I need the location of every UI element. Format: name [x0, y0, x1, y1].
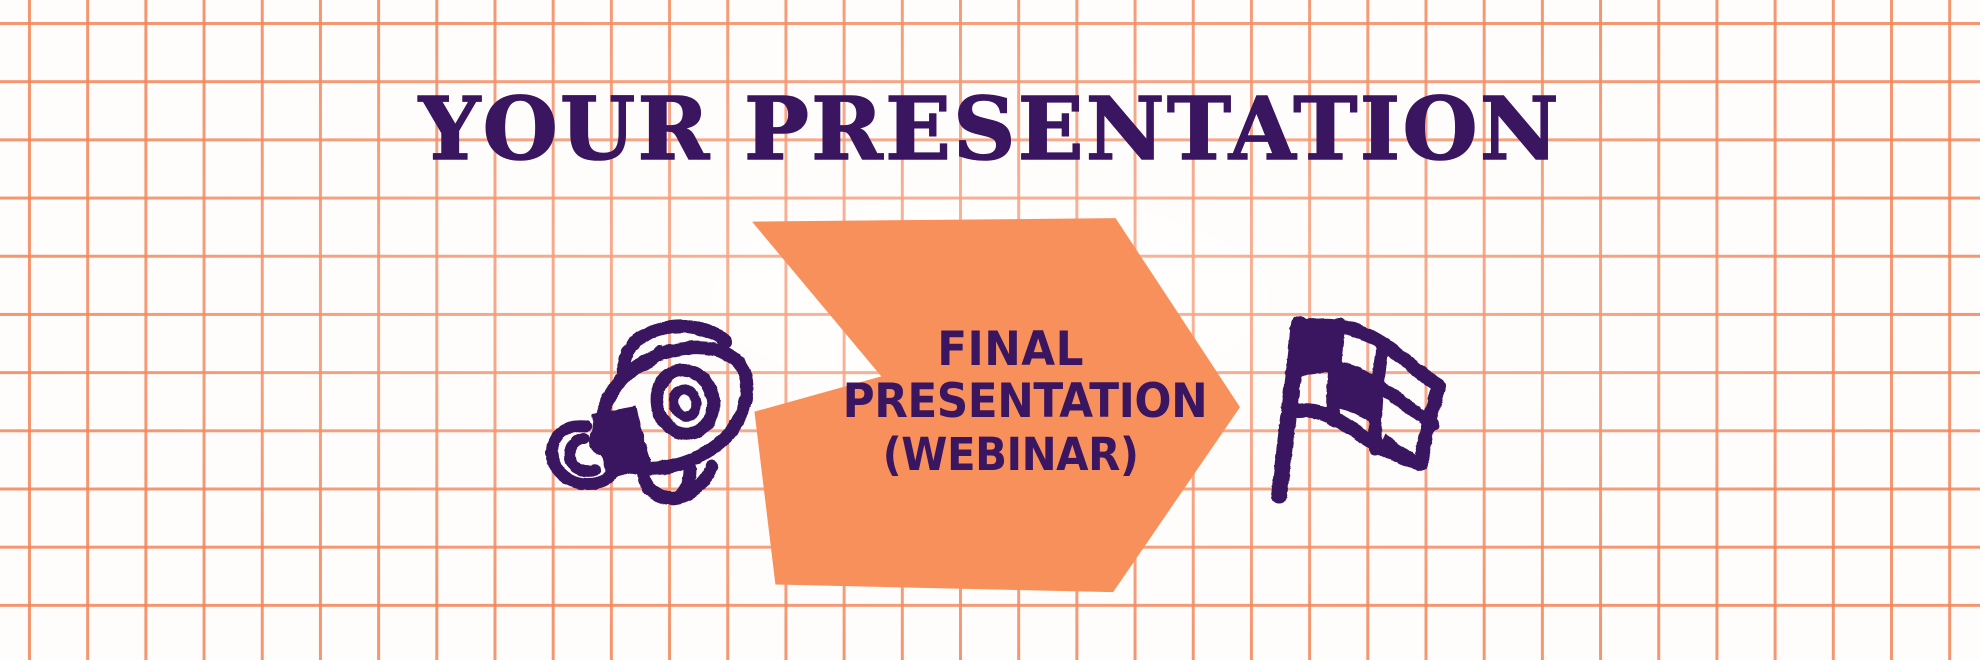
- timeline-stage: FINAL PRESENTATION (WEBINAR): [0, 0, 1980, 660]
- milestone-label-line-2: PRESENTATION: [843, 375, 1179, 429]
- milestone-label-line-3: (WEBINAR): [843, 429, 1179, 482]
- milestone-label-line-1: FINAL: [843, 326, 1179, 375]
- checkered-flag-icon: [1265, 308, 1451, 508]
- milestone-arrow-banner: FINAL PRESENTATION (WEBINAR): [752, 212, 1240, 596]
- presentation-slide: YOUR PRESENTATION: [0, 0, 1980, 660]
- milestone-label: FINAL PRESENTATION (WEBINAR): [830, 326, 1191, 482]
- rocket-icon: [540, 306, 756, 510]
